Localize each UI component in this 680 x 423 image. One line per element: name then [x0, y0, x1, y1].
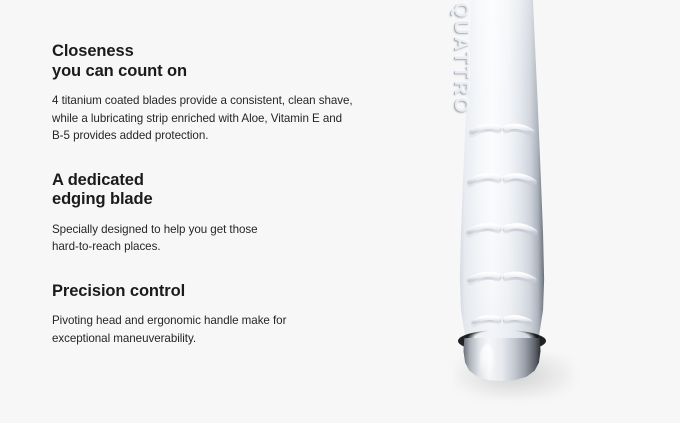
feature-block-closeness: Closeness you can count on 4 titanium co… [52, 42, 382, 145]
brand-wordmark-emboss: QUATTRO [432, 2, 472, 120]
feature-heading: A dedicated edging blade [52, 171, 382, 210]
feature-block-precision-control: Precision control Pivoting head and ergo… [52, 282, 382, 348]
feature-body: 4 titanium coated blades provide a consi… [52, 92, 382, 145]
cap-specular-highlight [480, 344, 494, 376]
feature-body: Pivoting head and ergonomic handle make … [52, 312, 382, 347]
feature-heading: Precision control [52, 282, 382, 302]
handle-body [448, 0, 556, 372]
razor-handle-image: QUATTRO [428, 0, 608, 423]
product-feature-panel: Closeness you can count on 4 titanium co… [0, 0, 680, 423]
feature-heading: Closeness you can count on [52, 42, 382, 81]
feature-block-edging-blade: A dedicated edging blade Specially desig… [52, 171, 382, 256]
feature-list: Closeness you can count on 4 titanium co… [52, 42, 382, 347]
feature-body: Specially designed to help you get those… [52, 221, 382, 256]
